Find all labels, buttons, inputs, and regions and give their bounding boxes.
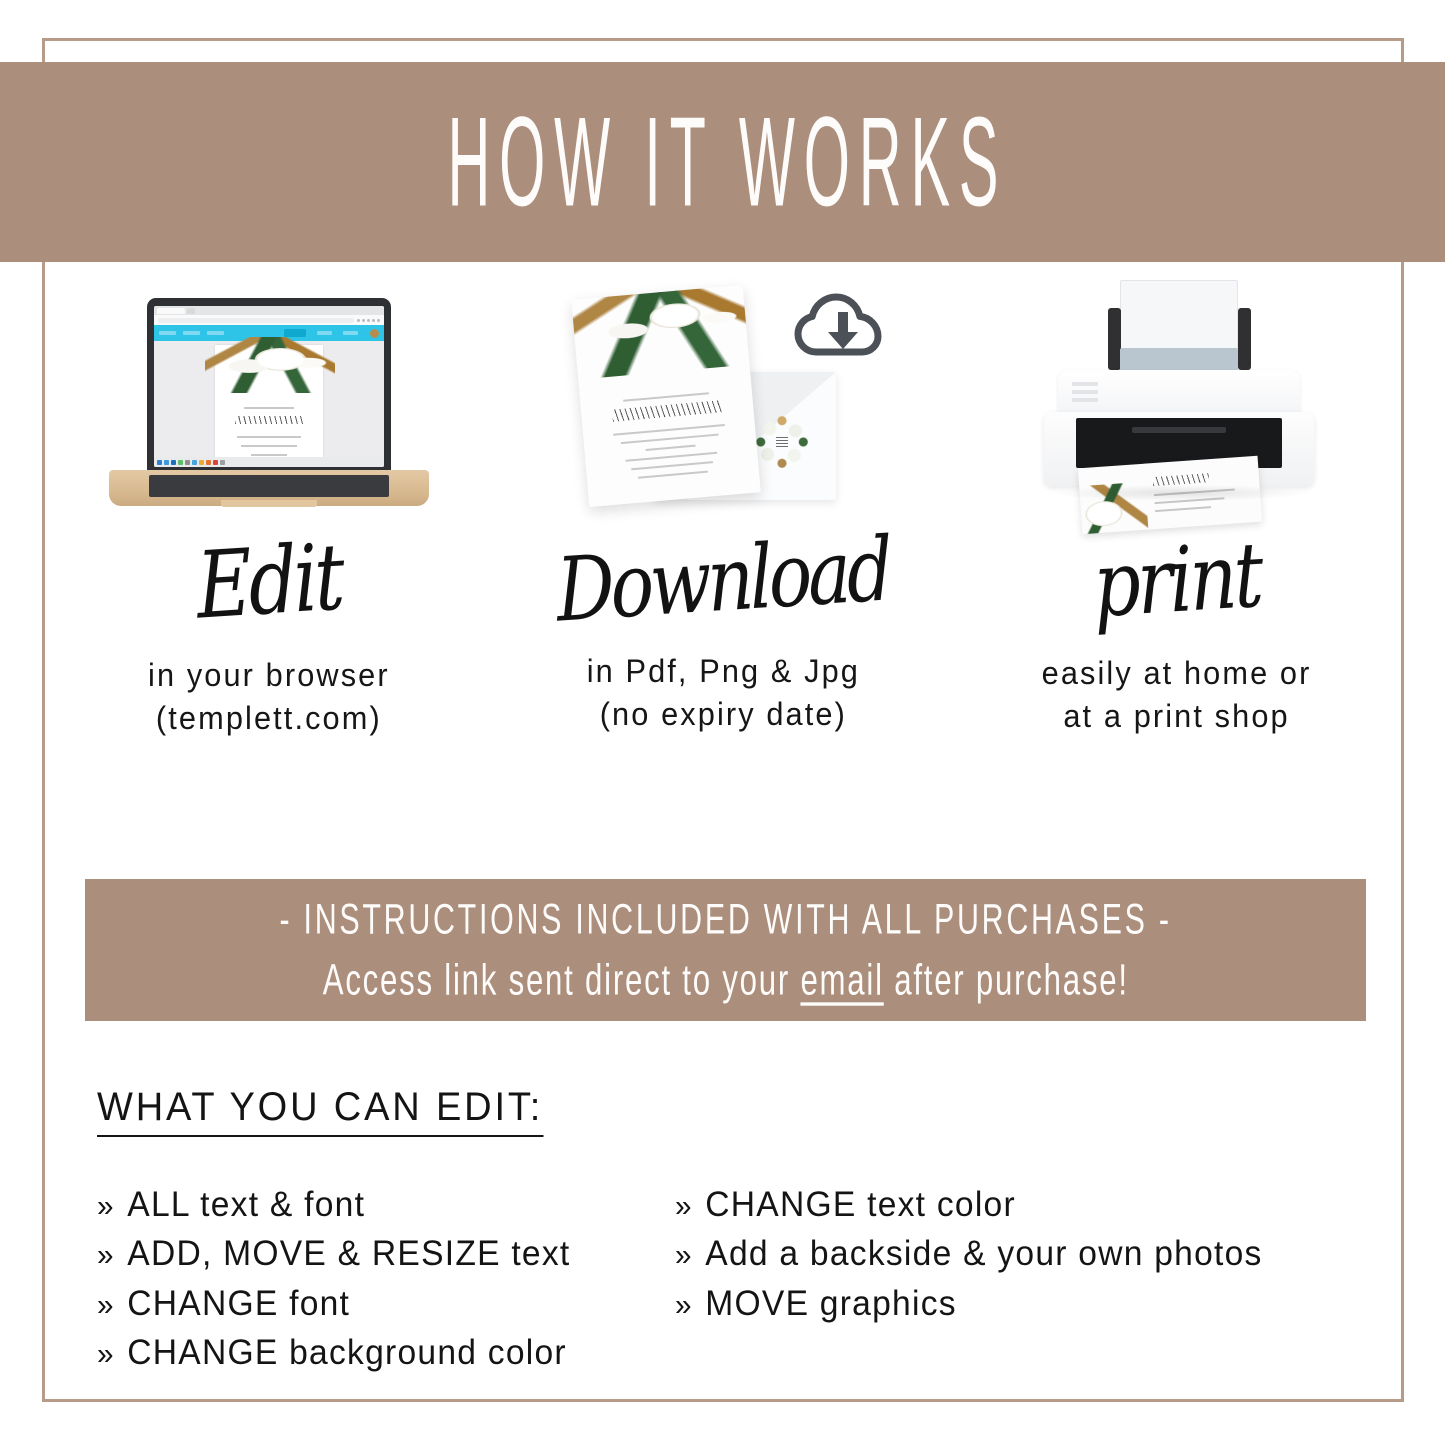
invitation-card	[571, 285, 760, 507]
list-item-label: CHANGE font	[127, 1282, 350, 1325]
list-item-label: ALL text & font	[127, 1183, 365, 1226]
floral-graphic	[205, 337, 335, 393]
list-item-label: ADD, MOVE & RESIZE text	[127, 1232, 570, 1275]
list-item-label: CHANGE text color	[705, 1183, 1016, 1226]
editor-canvas	[154, 341, 384, 467]
invitation-illustration	[558, 275, 888, 530]
avatar	[370, 329, 379, 338]
feature-script-label-print: print	[1092, 531, 1263, 632]
menu-item	[317, 331, 332, 335]
instructions-subline: Access link sent direct to your email af…	[323, 958, 1129, 1002]
guillemet-bullet-icon: »	[675, 1286, 693, 1324]
list-item: » CHANGE background color	[97, 1331, 652, 1374]
browser-address-bar	[154, 315, 384, 325]
new-tab-icon	[187, 308, 195, 314]
menu-item	[207, 331, 224, 335]
list-item-label: Add a backside & your own photos	[705, 1232, 1262, 1275]
caption-line-2: at a print shop	[1042, 695, 1312, 738]
os-taskbar	[154, 457, 384, 467]
feature-column-download: Download in Pdf, Png & Jpg (no expiry da…	[496, 275, 950, 805]
invitation-text-lines	[596, 390, 743, 489]
feature-column-print: print easily at home or at a print shop	[950, 275, 1404, 805]
caption-line-1: easily at home or	[1042, 652, 1312, 695]
paper-tray	[1120, 348, 1238, 372]
page-title: HOW IT WORKS	[438, 98, 1007, 225]
feature-caption-download: in Pdf, Png & Jpg (no expiry date)	[586, 650, 859, 736]
guillemet-bullet-icon: »	[675, 1236, 693, 1274]
laptop-keyboard	[149, 475, 389, 497]
list-item-label: MOVE graphics	[705, 1282, 957, 1325]
floral-wreath-monogram	[754, 414, 810, 470]
printer-lid	[1058, 370, 1300, 418]
feature-script-label-download: Download	[555, 525, 891, 634]
edit-list-right: » CHANGE text color » Add a backside & y…	[675, 1183, 1375, 1381]
feature-script-label-edit: Edit	[195, 531, 343, 632]
caption-line-2: (templett.com)	[148, 697, 390, 740]
laptop-base	[109, 470, 429, 506]
guillemet-bullet-icon: »	[97, 1286, 115, 1324]
extension-icons	[357, 319, 380, 322]
caption-line-1: in Pdf, Png & Jpg	[586, 650, 859, 693]
guillemet-bullet-icon: »	[675, 1187, 693, 1225]
invitation-preview	[215, 345, 323, 461]
edit-section-heading: WHAT YOU CAN EDIT:	[97, 1085, 543, 1137]
instructions-text-before: Access link sent direct to your	[323, 956, 801, 1004]
printer-device	[1012, 280, 1342, 530]
list-item: » CHANGE font	[97, 1282, 652, 1325]
printer-illustration	[1012, 275, 1342, 530]
caption-line-1: in your browser	[148, 654, 390, 697]
list-item: » ALL text & font	[97, 1183, 652, 1226]
list-item: » ADD, MOVE & RESIZE text	[97, 1232, 652, 1275]
instructions-text-after: after purchase!	[884, 956, 1129, 1004]
guillemet-bullet-icon: »	[97, 1335, 115, 1373]
list-item: » MOVE graphics	[675, 1282, 1347, 1325]
feature-caption-print: easily at home or at a print shop	[1042, 652, 1312, 738]
paper-guide-right	[1238, 308, 1251, 370]
printer-control-panel	[1072, 382, 1098, 406]
instructions-headline: - INSTRUCTIONS INCLUDED WITH ALL PURCHAS…	[279, 898, 1171, 941]
list-item-label: CHANGE background color	[127, 1331, 567, 1374]
floral-graphic	[571, 285, 760, 381]
instructions-banner: - INSTRUCTIONS INCLUDED WITH ALL PURCHAS…	[85, 879, 1366, 1021]
edit-list-left: » ALL text & font » ADD, MOVE & RESIZE t…	[97, 1183, 675, 1381]
edit-bullet-lists: » ALL text & font » ADD, MOVE & RESIZE t…	[97, 1183, 1387, 1381]
list-item: » CHANGE text color	[675, 1183, 1347, 1226]
browser-tab-bar	[154, 306, 384, 315]
download-button	[284, 329, 306, 337]
menu-item	[159, 331, 176, 335]
email-link: email	[800, 956, 883, 1004]
cloud-download-icon	[794, 290, 884, 364]
browser-tab	[157, 308, 185, 314]
feature-column-edit: Edit in your browser (templett.com)	[42, 275, 496, 805]
list-item: » Add a backside & your own photos	[675, 1232, 1347, 1275]
laptop-screen	[154, 306, 384, 467]
laptop-device	[109, 298, 429, 530]
invitation-and-envelope	[558, 280, 888, 530]
guillemet-bullet-icon: »	[97, 1236, 115, 1274]
header-banner: HOW IT WORKS	[0, 62, 1445, 262]
menu-item	[343, 331, 358, 335]
caption-line-2: (no expiry date)	[586, 693, 859, 736]
what-you-can-edit-section: WHAT YOU CAN EDIT: » ALL text & font » A…	[97, 1085, 1387, 1381]
features-row: Edit in your browser (templett.com)	[42, 275, 1404, 805]
url-field	[158, 318, 354, 323]
menu-item	[183, 331, 200, 335]
laptop-illustration	[109, 275, 429, 530]
guillemet-bullet-icon: »	[97, 1187, 115, 1225]
feature-caption-edit: in your browser (templett.com)	[148, 654, 390, 740]
laptop-lid	[147, 298, 391, 476]
printer-shadow	[1052, 485, 1308, 501]
